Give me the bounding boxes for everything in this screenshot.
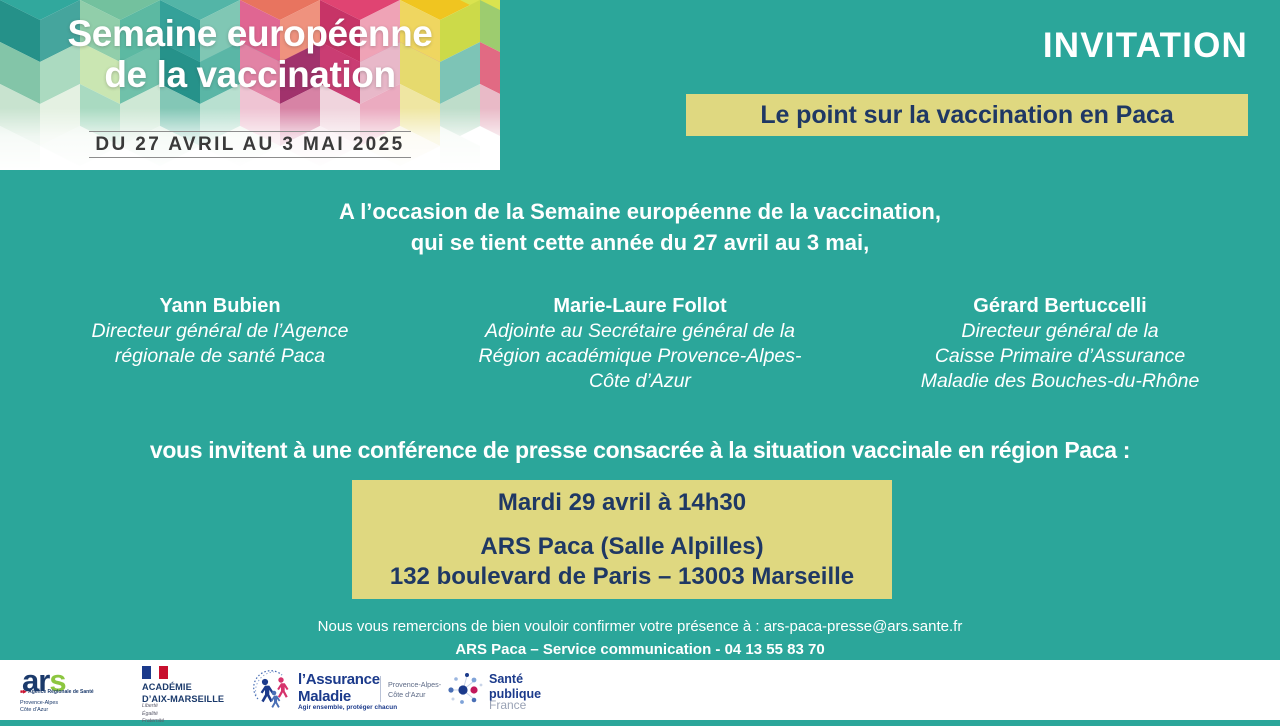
speaker-role: Directeur général de la Caisse Primaire … xyxy=(850,319,1270,393)
spf-name-line3: France xyxy=(489,699,526,712)
speaker-block: Gérard Bertuccelli Directeur général de … xyxy=(850,294,1270,393)
subtitle-text: Le point sur la vaccination en Paca xyxy=(760,101,1173,130)
invitation-heading: INVITATION xyxy=(1043,26,1248,66)
motto-line1: Liberté xyxy=(142,703,164,711)
assurance-maladie-tagline: Agir ensemble, protéger chacun xyxy=(298,704,397,711)
speakers-row: Yann Bubien Directeur général de l’Agenc… xyxy=(0,294,1280,393)
campaign-title-line2: de la vaccination xyxy=(0,55,500,95)
footer-logo-bar: ars ■▶ Agence Régionale de Santé Provenc… xyxy=(0,660,1280,720)
republic-motto: Liberté Égalité Fraternité xyxy=(142,703,164,726)
rsvp-block: Nous vous remercions de bien vouloir con… xyxy=(0,616,1280,660)
ars-region-line1: Provence-Alpes xyxy=(20,700,58,707)
speaker-role: Adjointe au Secrétaire général de la Rég… xyxy=(430,319,850,393)
assurance-maladie-figures-icon xyxy=(252,669,294,711)
ars-subtitle: ■▶ Agence Régionale de Santé xyxy=(20,690,94,695)
speaker-block: Marie-Laure Follot Adjointe au Secrétair… xyxy=(430,294,850,393)
intro-text: A l’occasion de la Semaine européenne de… xyxy=(0,196,1280,258)
speaker-role-line: régionale de santé Paca xyxy=(10,344,430,369)
motto-line2: Égalité xyxy=(142,711,164,719)
network-dots-icon xyxy=(443,670,487,710)
academie-name: ACADÉMIE D’AIX-MARSEILLE xyxy=(142,682,224,705)
ars-region-line2: Côte d’Azur xyxy=(20,707,58,714)
speaker-role: Directeur général de l’Agence régionale … xyxy=(10,319,430,368)
campaign-title-line1: Semaine européenne xyxy=(68,13,433,54)
french-flag-icon xyxy=(142,666,168,679)
assurance-maladie-region-line1: Provence-Alpes- xyxy=(388,680,441,690)
invitation-sentence: vous invitent à une conférence de presse… xyxy=(0,437,1280,464)
event-address: 132 boulevard de Paris – 13003 Marseille xyxy=(390,562,854,592)
speaker-role-line: Directeur général de la xyxy=(850,319,1270,344)
campaign-dates: DU 27 AVRIL AU 3 MAI 2025 xyxy=(0,131,500,158)
partner-logos: ars ■▶ Agence Régionale de Santé Provenc… xyxy=(8,660,553,720)
speaker-role-line: Maladie des Bouches-du-Rhône xyxy=(850,369,1270,394)
sante-publique-france-logo: Santé publique France xyxy=(443,664,553,716)
speaker-name: Gérard Bertuccelli xyxy=(850,294,1270,318)
assurance-maladie-name: l’Assurance Maladie xyxy=(298,672,380,706)
event-datetime: Mardi 29 avril à 14h30 xyxy=(498,489,746,517)
speaker-name: Yann Bubien xyxy=(10,294,430,318)
campaign-title: Semaine européenne de la vaccination xyxy=(0,14,500,95)
assurance-maladie-region-line2: Côte d’Azur xyxy=(388,690,441,700)
speaker-role-line: Région académique Provence-Alpes- xyxy=(430,344,850,369)
speaker-role-line: Adjointe au Secrétaire général de la xyxy=(430,319,850,344)
spf-name-line1: Santé xyxy=(489,672,541,687)
ars-subtitle-text: Agence Régionale de Santé xyxy=(28,689,94,695)
speaker-name: Marie-Laure Follot xyxy=(430,294,850,318)
intro-line-2: qui se tient cette année du 27 avril au … xyxy=(0,227,1280,258)
academie-aix-marseille-logo: ACADÉMIE D’AIX-MARSEILLE Liberté Égalité… xyxy=(142,664,234,716)
motto-line3: Fraternité xyxy=(142,718,164,726)
campaign-dates-text: DU 27 AVRIL AU 3 MAI 2025 xyxy=(89,131,410,158)
event-venue: ARS Paca (Salle Alpilles) xyxy=(480,532,763,562)
assurance-maladie-name-line1: l’Assurance xyxy=(298,672,380,689)
intro-line-1: A l’occasion de la Semaine européenne de… xyxy=(0,196,1280,227)
ars-logo: ars ■▶ Agence Régionale de Santé Provenc… xyxy=(16,664,124,716)
speaker-block: Yann Bubien Directeur général de l’Agenc… xyxy=(10,294,430,369)
assurance-maladie-region: Provence-Alpes- Côte d’Azur xyxy=(388,680,441,701)
speaker-role-line: Caisse Primaire d’Assurance xyxy=(850,344,1270,369)
ars-bullet-icon: ■▶ xyxy=(20,689,27,695)
assurance-maladie-logo: l’Assurance Maladie Agir ensemble, proté… xyxy=(252,664,427,716)
rsvp-contact-line: ARS Paca – Service communication - 04 13… xyxy=(0,639,1280,660)
campaign-banner: Semaine européenne de la vaccination DU … xyxy=(0,0,500,170)
invitation-slide: Semaine européenne de la vaccination DU … xyxy=(0,0,1280,720)
speaker-role-line: Côte d’Azur xyxy=(430,369,850,394)
academie-name-line1: ACADÉMIE xyxy=(142,682,224,694)
logo-divider xyxy=(380,676,381,702)
event-details-box: Mardi 29 avril à 14h30 ARS Paca (Salle A… xyxy=(352,480,892,599)
rsvp-email-line: Nous vous remercions de bien vouloir con… xyxy=(0,616,1280,639)
speaker-role-line: Directeur général de l’Agence xyxy=(10,319,430,344)
subtitle-bar: Le point sur la vaccination en Paca xyxy=(686,94,1248,136)
ars-region: Provence-Alpes Côte d’Azur xyxy=(20,700,58,715)
